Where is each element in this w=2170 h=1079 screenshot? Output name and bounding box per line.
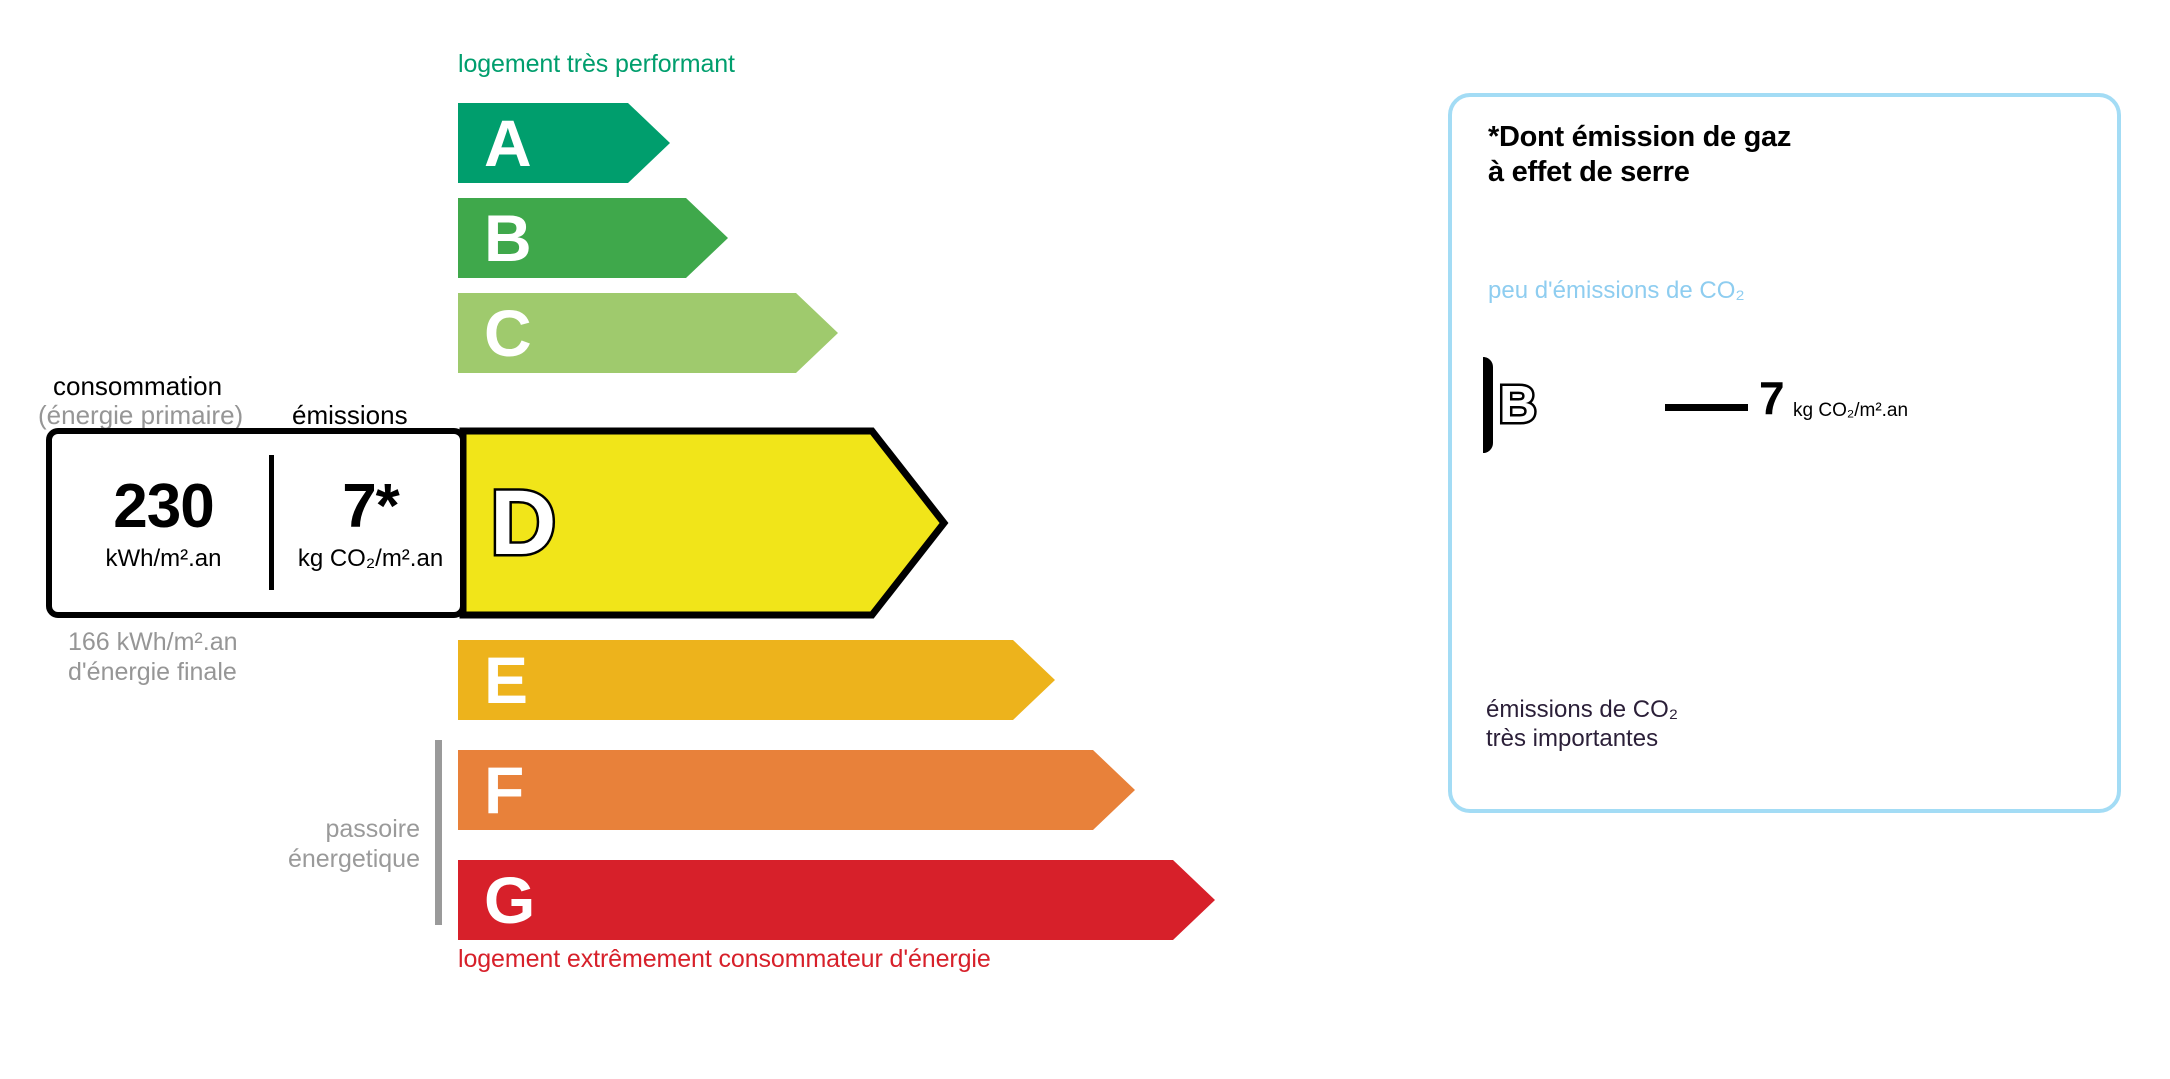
emission-value: 7* [342, 476, 399, 538]
consumption-box: 230 kWh/m².an 7* kg CO₂/m².an [46, 428, 466, 618]
label-emissions: émissions [292, 400, 408, 431]
energy-letter-e: E [484, 647, 528, 713]
co2-bottom-caption: émissions de CO₂ très importantes [1486, 696, 1678, 754]
co2-letter-e: E [1502, 557, 1525, 592]
co2-letter-a: A [1502, 313, 1527, 348]
emission-unit: kg CO₂/m².an [298, 547, 443, 571]
co2-panel-title: *Dont émission de gaz à effet de serre [1488, 120, 1791, 190]
passoire-label: passoire énergetique [185, 815, 420, 874]
co2-letter-b: B [1499, 379, 1537, 431]
energy-arrow-e [458, 640, 1055, 720]
energy-row-b: B [458, 198, 728, 278]
passoire-line-2: énergetique [185, 845, 420, 875]
co2-letter-d: D [1502, 509, 1527, 544]
energy-arrow-f [458, 750, 1135, 830]
label-consommation: consommation [53, 371, 222, 402]
dpe-diagram: logement très performant A B C [0, 0, 2170, 1079]
co2-top-caption: peu d'émissions de CO₂ [1488, 277, 1745, 305]
co2-row-c: C [1488, 459, 1648, 498]
co2-title-line-1: *Dont émission de gaz [1488, 120, 1791, 155]
energy-letter-f: F [484, 757, 524, 823]
co2-letter-c: C [1502, 461, 1527, 496]
consumption-divider [269, 455, 274, 590]
co2-letter-f: F [1502, 605, 1523, 640]
final-energy-note: 166 kWh/m².an d'énergie finale [68, 628, 238, 687]
co2-bar-b [1483, 357, 1493, 453]
co2-value-unit: kg CO₂/m².an [1793, 400, 1908, 422]
co2-bottom-line-2: très importantes [1486, 725, 1678, 754]
passoire-bracket [435, 740, 442, 925]
passoire-line-1: passoire [185, 815, 420, 845]
energy-letter-b: B [484, 205, 532, 271]
co2-bottom-line-1: émissions de CO₂ [1486, 696, 1678, 725]
co2-row-e: E [1488, 555, 1700, 594]
energy-bottom-caption: logement extrêmement consommateur d'éner… [458, 945, 991, 974]
consumption-cell: 230 kWh/m².an [52, 434, 275, 612]
energy-letter-a: A [484, 110, 532, 176]
energy-letter-c: C [484, 300, 532, 366]
label-energie-primaire: (énergie primaire) [38, 400, 243, 431]
energy-row-g: G [458, 860, 1215, 940]
energy-arrow-g [458, 860, 1215, 940]
emission-cell: 7* kg CO₂/m².an [275, 434, 466, 612]
co2-row-a: A [1488, 311, 1582, 350]
final-energy-label: d'énergie finale [68, 658, 238, 688]
co2-value: 7 [1759, 375, 1785, 421]
co2-row-b: B [1483, 357, 1590, 453]
co2-row-d: D [1488, 507, 1674, 546]
co2-row-g: G [1488, 651, 1753, 690]
energy-row-c: C [458, 293, 838, 373]
energy-top-caption: logement très performant [458, 50, 735, 79]
final-energy-value: 166 kWh/m².an [68, 628, 238, 658]
co2-row-f: F [1488, 603, 1727, 642]
co2-letter-g: G [1502, 653, 1529, 688]
energy-letter-d: D [490, 477, 556, 569]
co2-leader-line [1665, 404, 1748, 411]
energy-letter-g: G [484, 867, 535, 933]
consumption-unit: kWh/m².an [105, 547, 221, 571]
co2-title-line-2: à effet de serre [1488, 155, 1791, 190]
energy-row-a: A [458, 103, 670, 183]
energy-row-f: F [458, 750, 1135, 830]
energy-row-d: D [460, 428, 947, 618]
energy-row-e: E [458, 640, 1055, 720]
consumption-value: 230 [113, 476, 213, 538]
